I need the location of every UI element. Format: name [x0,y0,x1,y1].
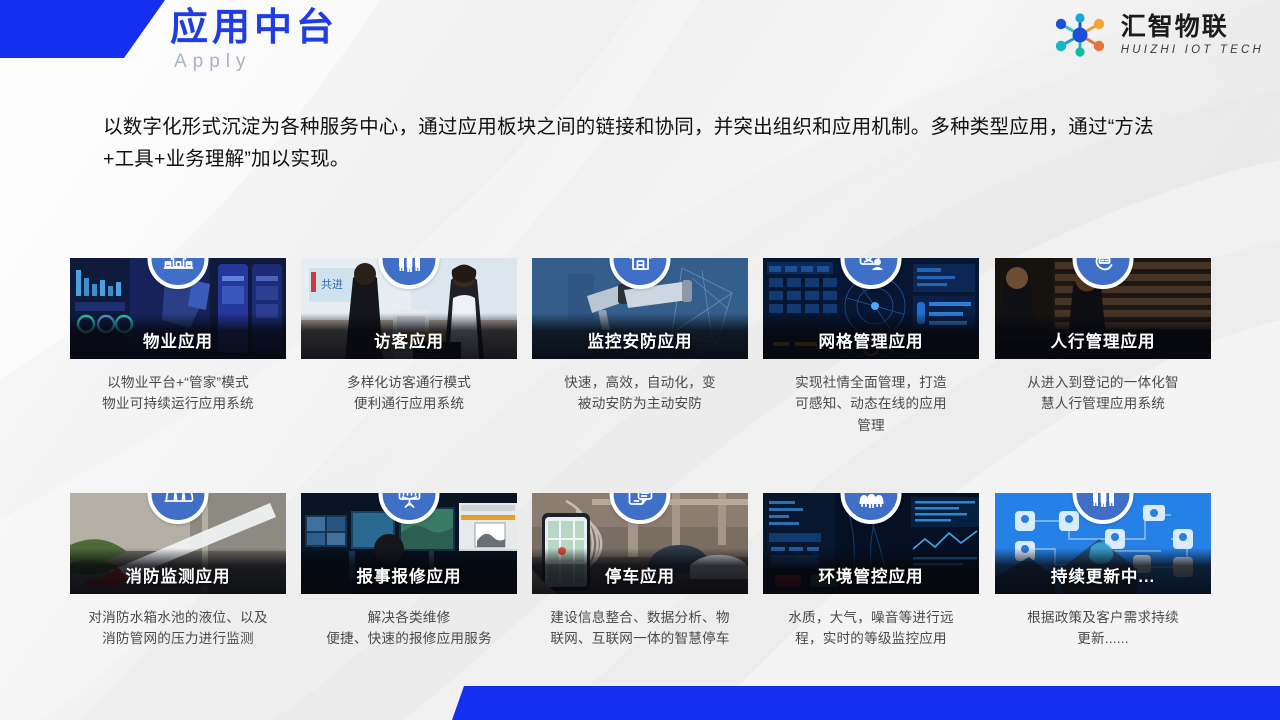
card-visitor-app[interactable]: 共进 访客应用 [301,258,517,415]
company-logo: 汇智物联 HUIZHI IOT TECH [1049,12,1264,58]
card-caption: 从进入到登记的一体化智慧人行管理应用系统 [995,372,1211,415]
logo-name-cn: 汇智物联 [1121,14,1229,42]
card-surveillance-app[interactable]: 监控安防应用 快速，高效，自动化，变被动安防为主动安防 [532,258,748,415]
card-thumbnail: 消防监测应用 [70,493,286,594]
card-thumbnail: 人行管理应用 [995,258,1211,359]
card-continuous-update[interactable]: 持续更新中... 根据政策及客户需求持续更新...... [995,493,1211,650]
card-thumbnail: 报事报修应用 [301,493,517,594]
card-caption: 以物业平台+“管家”模式物业可持续运行应用系统 [70,372,286,415]
card-caption: 实现社情全面管理，打造可感知、动态在线的应用管理 [763,372,979,436]
card-fire-monitoring-app[interactable]: 消防监测应用 对消防水箱水池的液位、以及消防管网的压力进行监测 [70,493,286,650]
card-thumbnail: 共进 访客应用 [301,258,517,359]
card-title: 物业应用 [70,328,286,352]
card-repair-report-app[interactable]: 报事报修应用 解决各类维修便捷、快速的报修应用服务 [301,493,517,650]
card-title: 报事报修应用 [301,563,517,587]
card-caption: 建设信息整合、数据分析、物联网、互联网一体的智慧停车 [532,607,748,650]
card-thumbnail: 网格管理应用 [763,258,979,359]
card-thumbnail: 物业应用 [70,258,286,359]
card-thumbnail: 停车应用 [532,493,748,594]
card-title: 持续更新中... [995,563,1211,587]
logo-name-en: HUIZHI IOT TECH [1121,44,1264,56]
molecule-network-icon [1049,12,1111,58]
svg-text:共进: 共进 [321,278,343,291]
card-caption: 根据政策及客户需求持续更新...... [995,607,1211,650]
card-title: 停车应用 [532,563,748,587]
card-title: 监控安防应用 [532,328,748,352]
card-grid-management-app[interactable]: 网格管理应用 实现社情全面管理，打造可感知、动态在线的应用管理 [763,258,979,436]
card-title: 访客应用 [301,328,517,352]
card-caption: 快速，高效，自动化，变被动安防为主动安防 [532,372,748,415]
application-card-grid: 物业应用 以物业平台+“管家”模式物业可持续运行应用系统 共进 [0,0,1280,720]
page-subtitle: Apply [174,51,252,73]
card-property-app[interactable]: 物业应用 以物业平台+“管家”模式物业可持续运行应用系统 [70,258,286,415]
card-title: 消防监测应用 [70,563,286,587]
page-title: 应用中台 [170,8,338,50]
card-thumbnail: 持续更新中... [995,493,1211,594]
card-caption: 水质，大气，噪音等进行远程，实时的等级监控应用 [763,607,979,650]
intro-paragraph: 以数字化形式沉淀为各种服务中心，通过应用板块之间的链接和协同，并突出组织和应用机… [103,112,1183,175]
card-pedestrian-management-app[interactable]: 人行管理应用 从进入到登记的一体化智慧人行管理应用系统 [995,258,1211,415]
card-title: 环境管控应用 [763,563,979,587]
card-caption: 对消防水箱水池的液位、以及消防管网的压力进行监测 [70,607,286,650]
card-caption: 多样化访客通行模式便利通行应用系统 [301,372,517,415]
card-thumbnail: 环境管控应用 [763,493,979,594]
card-environment-control-app[interactable]: 环境管控应用 水质，大气，噪音等进行远程，实时的等级监控应用 [763,493,979,650]
card-thumbnail: 监控安防应用 [532,258,748,359]
card-title: 人行管理应用 [995,328,1211,352]
card-title: 网格管理应用 [763,328,979,352]
card-parking-app[interactable]: 停车应用 建设信息整合、数据分析、物联网、互联网一体的智慧停车 [532,493,748,650]
card-caption: 解决各类维修便捷、快速的报修应用服务 [301,607,517,650]
page-header: 应用中台 Apply 汇智物联 HUIZHI IOT TECH [0,0,1280,90]
